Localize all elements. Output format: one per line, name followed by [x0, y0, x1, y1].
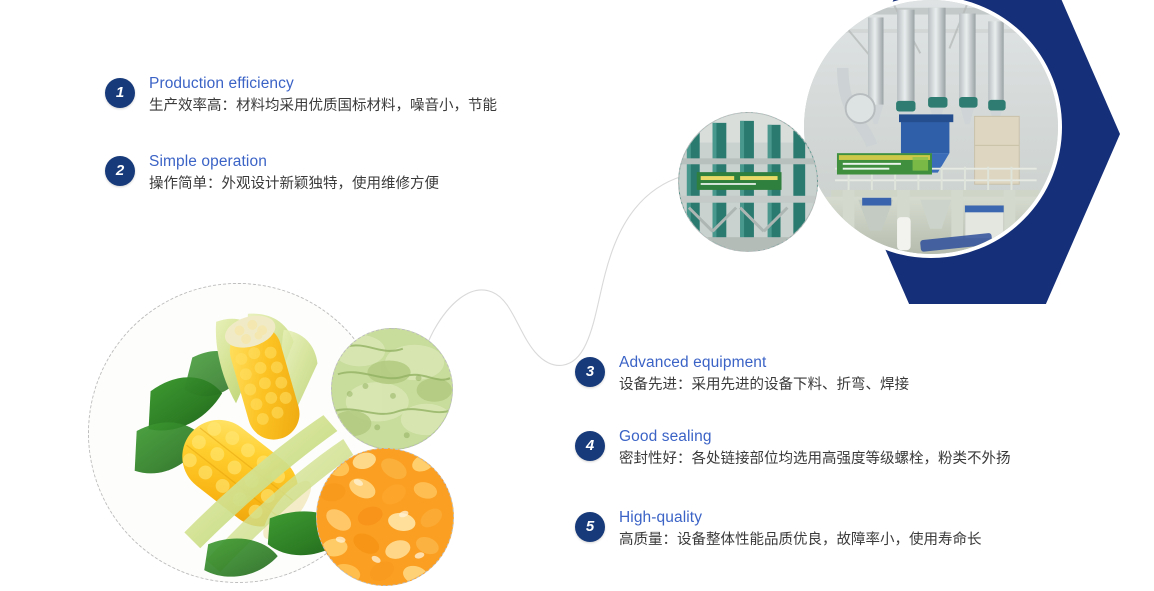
- orange-corn-grits-photo: [316, 448, 454, 586]
- corn-photo-cluster: [88, 283, 488, 591]
- feature-badge-3: 3: [575, 357, 605, 387]
- green-corn-flour-photo: [331, 328, 453, 450]
- feature-item-2: 2 Simple operation 操作简单：外观设计新颖独特，使用维修方便: [105, 152, 439, 195]
- feature-title-cn-4: 密封性好：各处链接部位均选用高强度等级螺栓，粉类不外扬: [619, 448, 1011, 470]
- green-milling-machinery-photo: [678, 112, 818, 252]
- feature-title-cn-2: 操作简单：外观设计新颖独特，使用维修方便: [149, 173, 439, 195]
- feature-item-3: 3 Advanced equipment 设备先进：采用先进的设备下料、折弯、焊…: [575, 353, 909, 396]
- feature-badge-2: 2: [105, 156, 135, 186]
- feature-text-5: High-quality 高质量：设备整体性能品质优良，故障率小，使用寿命长: [619, 508, 982, 551]
- feature-title-en-4: Good sealing: [619, 427, 1011, 446]
- feature-item-1: 1 Production efficiency 生产效率高：材料均采用优质国标材…: [105, 74, 497, 117]
- feature-title-en-1: Production efficiency: [149, 74, 497, 93]
- feature-title-en-5: High-quality: [619, 508, 982, 527]
- feature-text-3: Advanced equipment 设备先进：采用先进的设备下料、折弯、焊接: [619, 353, 909, 396]
- feature-highlight-page: 1 Production efficiency 生产效率高：材料均采用优质国标材…: [0, 0, 1154, 591]
- feature-text-4: Good sealing 密封性好：各处链接部位均选用高强度等级螺栓，粉类不外扬: [619, 427, 1011, 470]
- feature-title-cn-5: 高质量：设备整体性能品质优良，故障率小，使用寿命长: [619, 529, 982, 551]
- machine-photo-cluster: [660, 0, 1154, 264]
- feature-badge-1: 1: [105, 78, 135, 108]
- feature-title-cn-1: 生产效率高：材料均采用优质国标材料，噪音小，节能: [149, 95, 497, 117]
- feature-title-cn-3: 设备先进：采用先进的设备下料、折弯、焊接: [619, 374, 909, 396]
- feature-text-1: Production efficiency 生产效率高：材料均采用优质国标材料，…: [149, 74, 497, 117]
- feature-title-en-3: Advanced equipment: [619, 353, 909, 372]
- feature-badge-5: 5: [575, 512, 605, 542]
- feature-badge-4: 4: [575, 431, 605, 461]
- feature-item-5: 5 High-quality 高质量：设备整体性能品质优良，故障率小，使用寿命长: [575, 508, 982, 551]
- feature-text-2: Simple operation 操作简单：外观设计新颖独特，使用维修方便: [149, 152, 439, 195]
- flour-mill-plant-photo: [800, 0, 1062, 258]
- feature-title-en-2: Simple operation: [149, 152, 439, 171]
- feature-item-4: 4 Good sealing 密封性好：各处链接部位均选用高强度等级螺栓，粉类不…: [575, 427, 1011, 470]
